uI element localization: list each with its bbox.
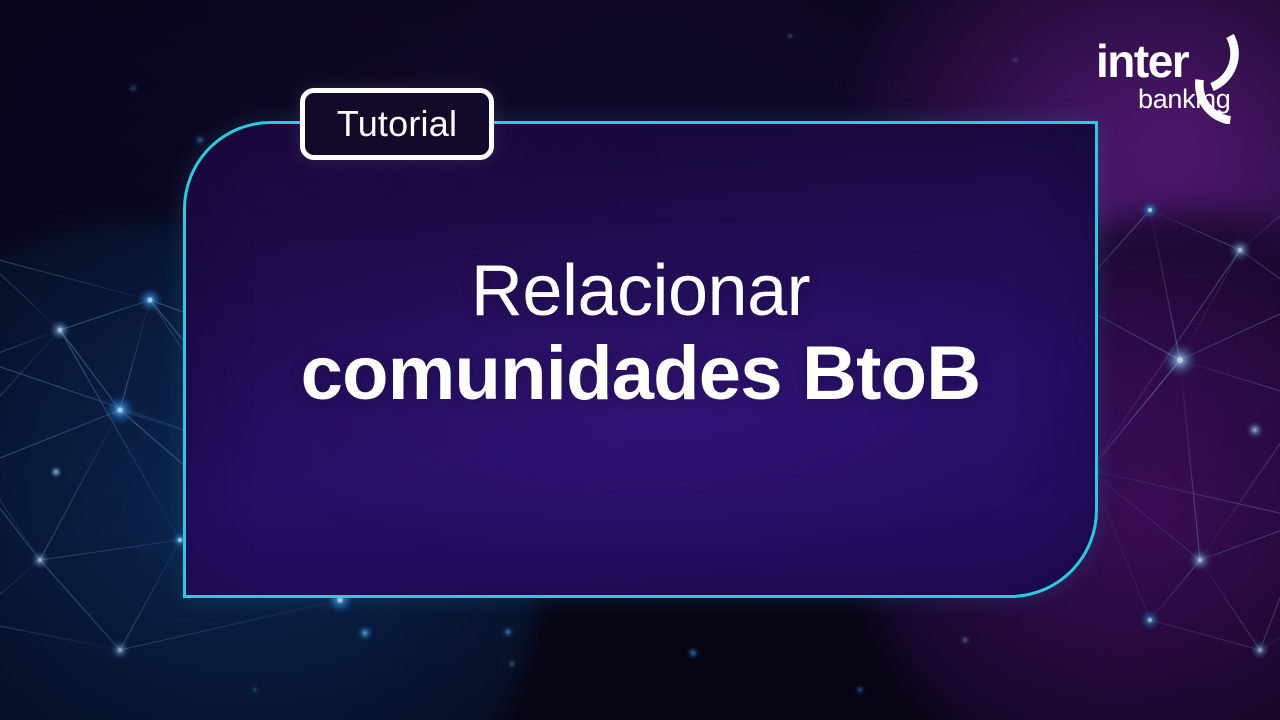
tutorial-badge: Tutorial — [300, 88, 494, 160]
tutorial-badge-label: Tutorial — [337, 106, 457, 142]
title-line-2: comunidades BtoB — [183, 334, 1098, 413]
title-line-1: Relacionar — [183, 255, 1098, 328]
headline-block: Relacionar comunidades BtoB — [183, 255, 1098, 413]
title-card: Relacionar comunidades BtoB Tutorial int… — [0, 0, 1280, 720]
interbanking-logo: inter banking — [1094, 20, 1262, 124]
interbanking-logo-mark: inter banking — [1094, 20, 1262, 124]
logo-wordmark-banking: banking — [1138, 84, 1230, 114]
logo-wordmark-inter: inter — [1096, 35, 1190, 87]
